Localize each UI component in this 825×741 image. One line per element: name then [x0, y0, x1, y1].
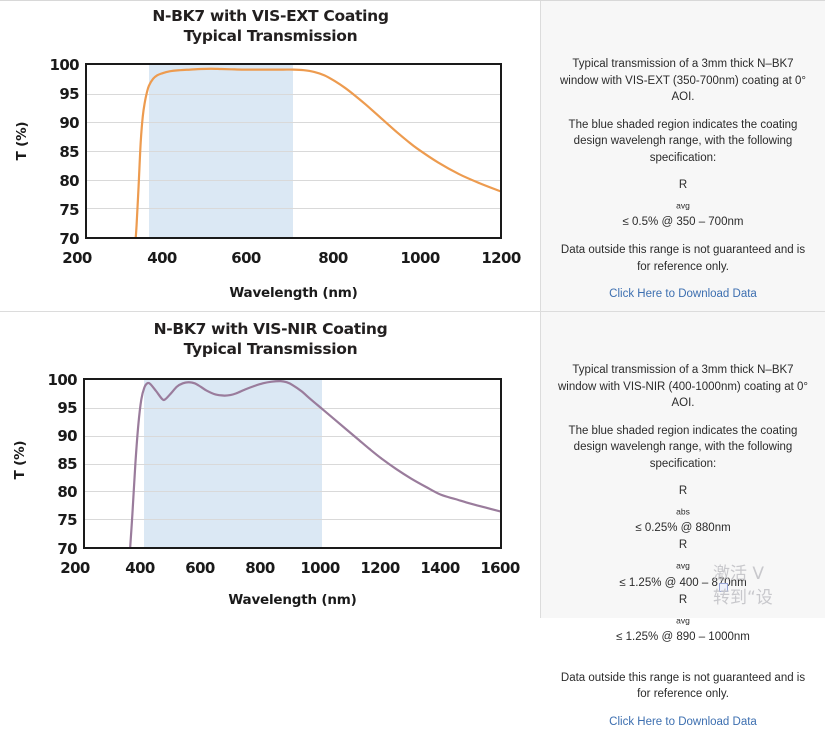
- vis-ext-title-line-1: N-BK7 with VIS-EXT Coating: [0, 6, 541, 26]
- vis-nir-x-axis-title: Wavelength (nm): [83, 592, 502, 608]
- vis-nir-xtick-1000: 1000: [286, 559, 354, 577]
- vis-nir-spec-2: Ravg ≤ 1.25% @ 890 – 1000nm: [555, 592, 811, 646]
- vis-ext-description-cell: Typical transmission of a 3mm thick N–BK…: [541, 1, 825, 311]
- vis-nir-ytick-70: 70: [33, 540, 77, 558]
- vis-nir-chart-title: N-BK7 with VIS-NIR Coating Typical Trans…: [0, 319, 541, 359]
- vis-ext-ytick-95: 95: [35, 85, 79, 103]
- vis-ext-intro-text: Typical transmission of a 3mm thick N–BK…: [555, 56, 811, 106]
- vis-nir-xtick-1400: 1400: [406, 559, 474, 577]
- vis-ext-ytick-75: 75: [35, 201, 79, 219]
- vis-nir-xtick-800: 800: [230, 559, 290, 577]
- vis-nir-spec-list: Rabs ≤ 0.25% @ 880nm Ravg ≤ 1.25% @ 400 …: [555, 483, 811, 646]
- vis-nir-ytick-95: 95: [33, 399, 77, 417]
- vis-nir-xtick-1600: 1600: [466, 559, 534, 577]
- vis-nir-xtick-1200: 1200: [346, 559, 414, 577]
- vis-ext-spec-0: Ravg ≤ 0.5% @ 350 – 700nm: [555, 177, 811, 231]
- vis-nir-download-link[interactable]: Click Here to Download Data: [609, 714, 757, 731]
- vis-nir-ytick-75: 75: [33, 511, 77, 529]
- vis-nir-xtick-400: 400: [110, 559, 170, 577]
- transmission-curve: [135, 69, 500, 237]
- vis-nir-disclaimer: Data outside this range is not guarantee…: [555, 670, 811, 703]
- vis-ext-chart-title: N-BK7 with VIS-EXT Coating Typical Trans…: [0, 6, 541, 46]
- vis-nir-download-row: Click Here to Download Data: [555, 714, 811, 731]
- transmission-curve-layer: [85, 380, 500, 547]
- vis-ext-ytick-85: 85: [35, 143, 79, 161]
- vis-ext-xtick-1000: 1000: [383, 249, 457, 267]
- vis-nir-ytick-85: 85: [33, 455, 77, 473]
- vis-ext-ytick-80: 80: [35, 172, 79, 190]
- vis-ext-xtick-400: 400: [132, 249, 192, 267]
- vis-nir-spec-1: Ravg ≤ 1.25% @ 400 – 870nm: [555, 537, 811, 591]
- vis-nir-spec-0: Rabs ≤ 0.25% @ 880nm: [555, 483, 811, 537]
- vis-nir-ytick-100: 100: [33, 371, 77, 389]
- vis-ext-download-row: Click Here to Download Data: [555, 286, 811, 303]
- vis-ext-plot-area: [85, 63, 502, 239]
- vis-ext-chart-cell: N-BK7 with VIS-EXT Coating Typical Trans…: [0, 1, 541, 311]
- vis-nir-title-line-2: Typical Transmission: [0, 339, 541, 359]
- vis-ext-y-axis-title: T (%): [14, 111, 30, 171]
- vis-ext-disclaimer: Data outside this range is not guarantee…: [555, 242, 811, 275]
- vis-nir-description: Typical transmission of a 3mm thick N–BK…: [555, 362, 811, 741]
- vis-nir-plot-area: [83, 378, 502, 549]
- vis-ext-xtick-200: 200: [47, 249, 107, 267]
- vis-ext-x-axis-title: Wavelength (nm): [85, 285, 502, 301]
- vis-ext-panel-row: N-BK7 with VIS-EXT Coating Typical Trans…: [0, 1, 825, 311]
- vis-nir-ytick-80: 80: [33, 483, 77, 501]
- vis-nir-y-axis-title: T (%): [12, 430, 28, 490]
- vis-nir-intro-text: Typical transmission of a 3mm thick N–BK…: [555, 362, 811, 412]
- vis-ext-ytick-70: 70: [35, 230, 79, 248]
- vis-ext-download-link[interactable]: Click Here to Download Data: [609, 286, 757, 303]
- vis-ext-xtick-600: 600: [216, 249, 276, 267]
- vis-nir-title-line-1: N-BK7 with VIS-NIR Coating: [0, 319, 541, 339]
- vis-ext-ytick-90: 90: [35, 114, 79, 132]
- vis-nir-ytick-90: 90: [33, 427, 77, 445]
- vis-nir-xtick-600: 600: [170, 559, 230, 577]
- transmission-charts-page: N-BK7 with VIS-EXT Coating Typical Trans…: [0, 0, 825, 616]
- vis-ext-shade-note: The blue shaded region indicates the coa…: [555, 117, 811, 167]
- vis-nir-description-cell: Typical transmission of a 3mm thick N–BK…: [541, 312, 825, 618]
- vis-nir-shade-note: The blue shaded region indicates the coa…: [555, 423, 811, 473]
- vis-nir-chart-cell: N-BK7 with VIS-NIR Coating Typical Trans…: [0, 312, 541, 618]
- vis-ext-xtick-1200: 1200: [464, 249, 538, 267]
- vis-ext-xtick-800: 800: [299, 249, 367, 267]
- transmission-curve-layer: [87, 65, 500, 237]
- vis-ext-description: Typical transmission of a 3mm thick N–BK…: [555, 56, 811, 314]
- vis-ext-spec-list: Ravg ≤ 0.5% @ 350 – 700nm: [555, 177, 811, 231]
- windows-activation-badge-icon: [719, 583, 728, 592]
- vis-ext-title-line-2: Typical Transmission: [0, 26, 541, 46]
- vis-ext-ytick-100: 100: [35, 56, 79, 74]
- vis-nir-panel-row: N-BK7 with VIS-NIR Coating Typical Trans…: [0, 311, 825, 618]
- transmission-curve: [129, 381, 500, 547]
- vis-nir-xtick-200: 200: [45, 559, 105, 577]
